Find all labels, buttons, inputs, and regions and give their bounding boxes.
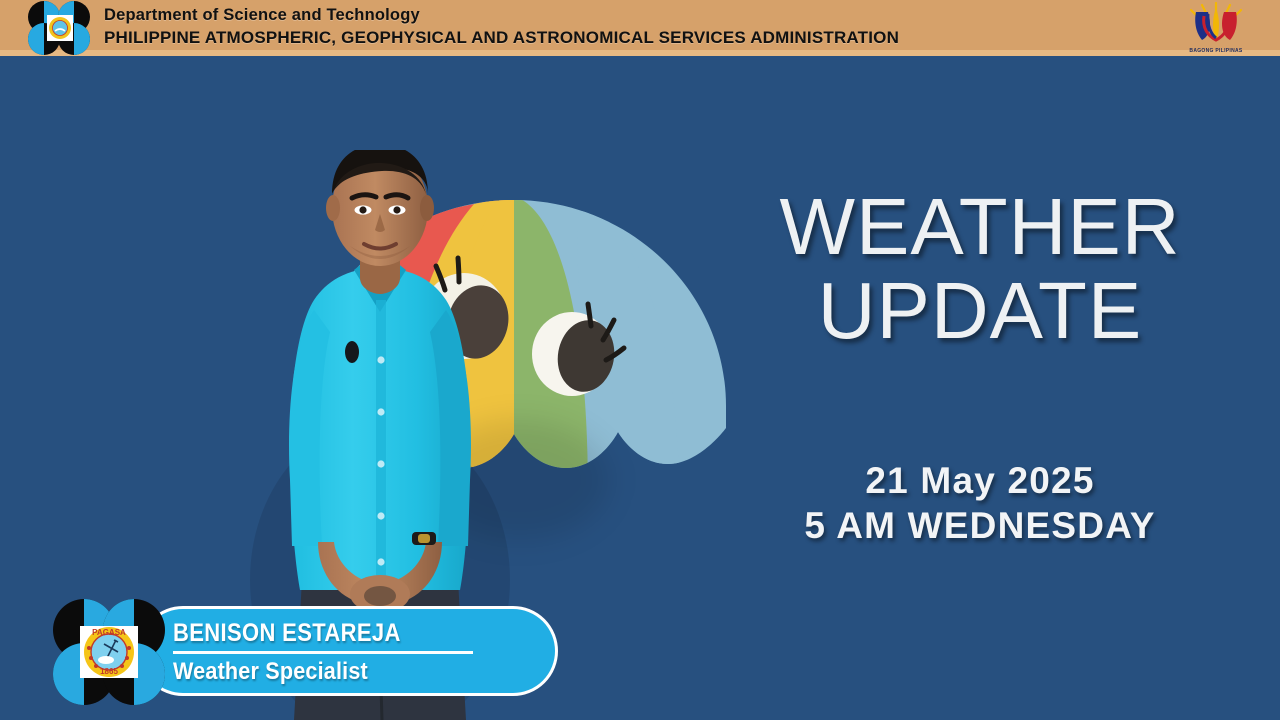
broadcast-datetime: 21 May 2025 5 AM WEDNESDAY <box>700 458 1260 548</box>
bagong-pilipinas-logo: BAGONG PILIPINAS <box>1166 2 1266 54</box>
seal-text-bottom: 1865 <box>100 667 118 676</box>
lower-third-banner: BENISON ESTAREJA Weather Specialist <box>48 596 518 708</box>
presenter-info: BENISON ESTAREJA Weather Specialist <box>173 618 513 686</box>
bagong-pilipinas-caption: BAGONG PILIPINAS <box>1166 48 1266 54</box>
broadcast-screen: WEATHER UPDATE 21 May 2025 5 AM WEDNESDA… <box>0 0 1280 720</box>
broadcast-date: 21 May 2025 <box>700 458 1260 503</box>
broadcast-time-day: 5 AM WEDNESDAY <box>700 503 1260 548</box>
presenter-divider <box>173 651 473 654</box>
title-line-1: WEATHER <box>700 185 1260 269</box>
title-line-2: UPDATE <box>700 269 1260 353</box>
agency-line-1: Department of Science and Technology <box>104 4 899 26</box>
agency-name: Department of Science and Technology PHI… <box>104 4 899 49</box>
broadcast-title: WEATHER UPDATE <box>700 185 1260 353</box>
header-accent-strip <box>0 50 1280 56</box>
presenter-role: Weather Specialist <box>173 657 479 686</box>
agency-header-bar: Department of Science and Technology PHI… <box>0 0 1280 56</box>
seal-text-top: PAGASA <box>92 628 126 637</box>
presenter-name: BENISON ESTAREJA <box>173 618 472 648</box>
pagasa-seal-logo: PAGASA 1865 <box>48 596 170 708</box>
agency-line-2: PHILIPPINE ATMOSPHERIC, GEOPHYSICAL AND … <box>104 26 899 49</box>
dost-pagasa-logo <box>22 1 96 55</box>
